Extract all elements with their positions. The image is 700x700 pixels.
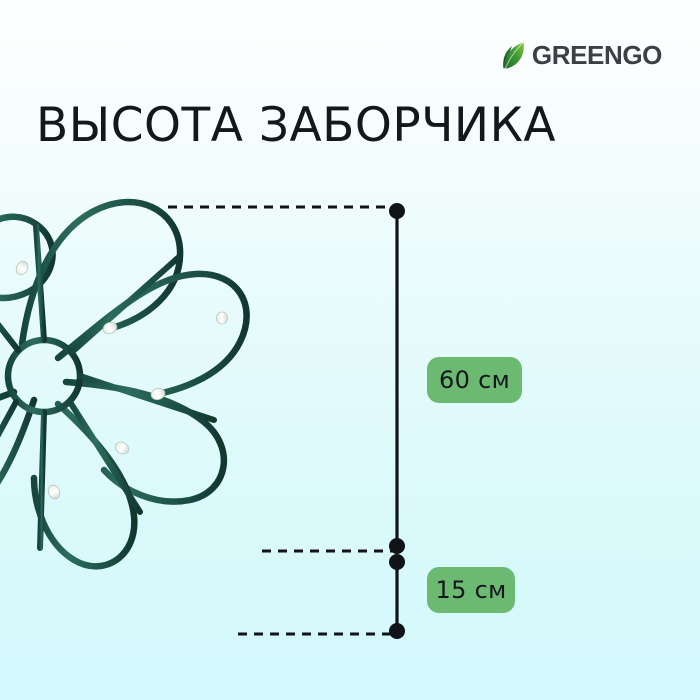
product-illustration: [0, 0, 700, 700]
fence-wire-artwork: [0, 202, 247, 637]
measurement-badge-15cm: 15 см: [427, 567, 515, 613]
dimension-dot-bottom: [389, 623, 405, 639]
dimension-dot-middle-upper: [389, 538, 405, 554]
dimension-dot-top: [389, 203, 405, 219]
dimension-dot-middle-lower: [389, 554, 405, 570]
measurement-badge-60cm: 60 см: [427, 357, 522, 403]
product-infographic-canvas: GREENGO ВЫСОТА ЗАБОРЧИКА: [0, 0, 700, 700]
